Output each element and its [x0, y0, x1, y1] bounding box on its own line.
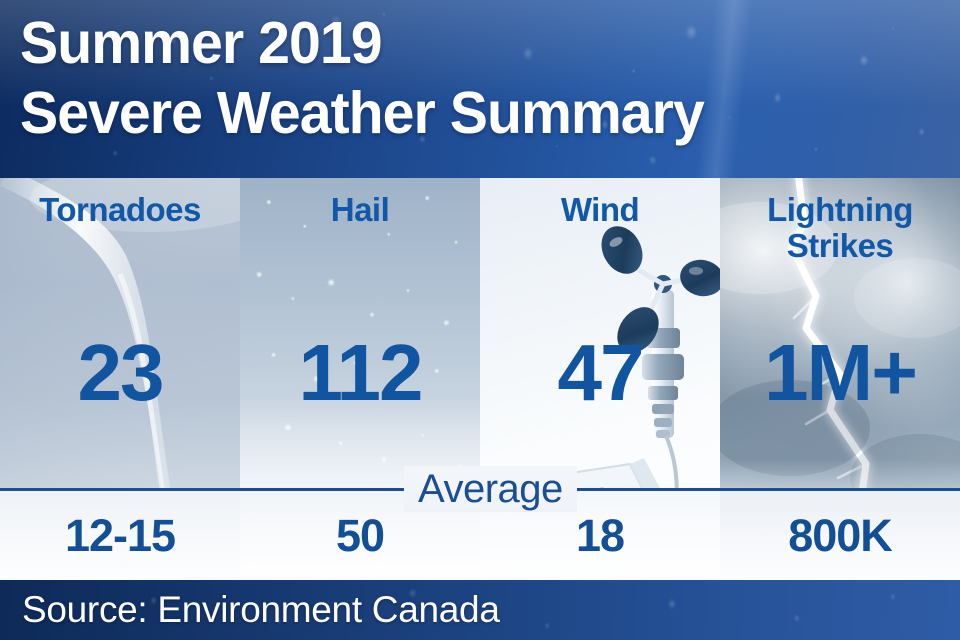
header-banner: Summer 2019 Severe Weather Summary [0, 0, 960, 178]
average-value-tornadoes: 12-15 [0, 491, 240, 580]
average-divider-label: Average [404, 466, 577, 512]
weather-summary-infographic: Summer 2019 Severe Weather Summary [0, 0, 960, 640]
stat-value-hail: 112 [240, 333, 480, 413]
stat-label-wind: Wind [480, 192, 720, 228]
stat-value-tornadoes: 23 [0, 333, 240, 413]
stat-label-lightning: Lightning Strikes [720, 192, 960, 264]
stat-value-wind: 47 [480, 333, 720, 413]
stat-label-hail: Hail [240, 192, 480, 228]
stat-label-tornadoes: Tornadoes [0, 192, 240, 228]
stat-value-lightning: 1M+ [720, 333, 960, 413]
source-footer-bar: Source: Environment Canada [0, 580, 960, 640]
source-attribution: Source: Environment Canada [22, 590, 500, 630]
average-value-lightning: 800K [720, 491, 960, 580]
page-title: Summer 2019 Severe Weather Summary [20, 8, 704, 148]
